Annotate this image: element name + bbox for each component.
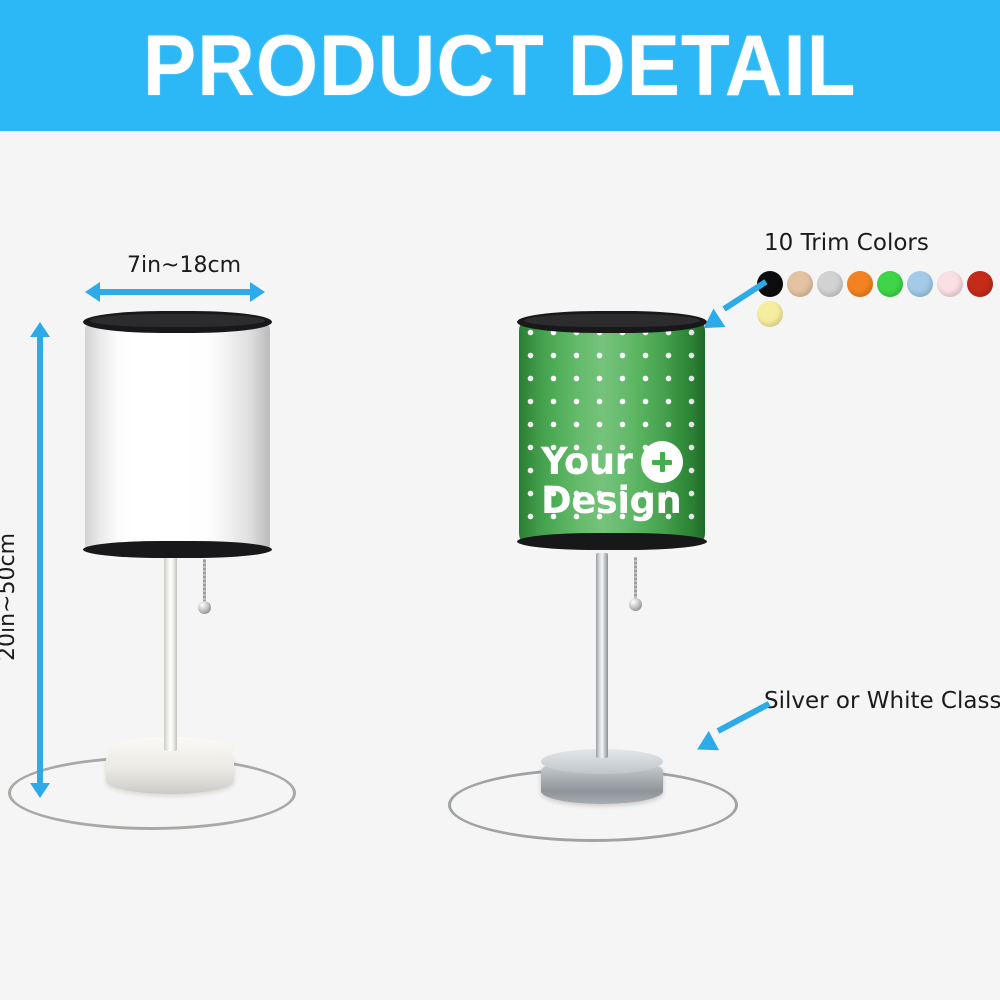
page-title: PRODUCT DETAIL: [143, 23, 857, 109]
trim-arrow-shaft: [722, 279, 767, 311]
green-lamp-pole: [596, 553, 608, 758]
lamp-height-label: 20in~50cm: [0, 533, 20, 661]
trim-swatch-orange[interactable]: [847, 271, 873, 297]
base-finish-label: Silver or White Classy: [764, 688, 1000, 714]
white-lamp-pole: [164, 556, 177, 751]
shade-artwork-line-1: Your: [541, 444, 632, 480]
base-arrow-shaft: [717, 701, 771, 734]
white-lamp-shade: [85, 321, 270, 553]
shade-width-arrow: [99, 289, 251, 295]
product-detail-page: PRODUCT DETAIL 7in~18cm: [0, 0, 1000, 1000]
trim-swatch-pink[interactable]: [937, 271, 963, 297]
green-lamp-pull-knob: [629, 598, 642, 611]
page-header-banner: PRODUCT DETAIL: [0, 0, 1000, 131]
shade-artwork-row-1: Your: [541, 441, 683, 483]
trim-colors-title: 10 Trim Colors: [764, 230, 929, 256]
trim-arrow-head: [698, 309, 726, 338]
plus-icon: [641, 441, 683, 483]
base-finish-pointer-arrow: [696, 716, 771, 761]
trim-swatch-light-gray[interactable]: [817, 271, 843, 297]
trim-swatch-green[interactable]: [877, 271, 903, 297]
lamp-height-arrow: [37, 336, 43, 784]
shade-width-label: 7in~18cm: [127, 253, 241, 278]
white-lamp-shade-gloss: [85, 321, 270, 553]
white-lamp-bottom-trim: [83, 541, 272, 558]
white-lamp-pull-knob: [198, 601, 211, 614]
trim-swatch-light-blue[interactable]: [907, 271, 933, 297]
trim-colors-pointer-arrow: [702, 286, 762, 336]
trim-colors-swatch-list: [757, 271, 995, 327]
base-arrow-head: [692, 731, 719, 759]
shade-artwork-line-2: Design: [541, 483, 681, 519]
green-lamp-pull-chain: [634, 557, 637, 601]
green-lamp-bottom-trim: [517, 533, 707, 550]
white-lamp-top-trim-highlight: [90, 314, 265, 327]
shade-artwork: Your Design: [541, 441, 683, 519]
trim-swatch-tan[interactable]: [787, 271, 813, 297]
white-lamp-pull-chain: [203, 559, 206, 604]
product-illustration-stage: 7in~18cm 20in~50cm Your: [0, 131, 1000, 1000]
trim-swatch-dark-red[interactable]: [967, 271, 993, 297]
shade-artwork-row-2: Design: [541, 483, 683, 519]
green-lamp-top-trim-highlight: [524, 314, 700, 327]
